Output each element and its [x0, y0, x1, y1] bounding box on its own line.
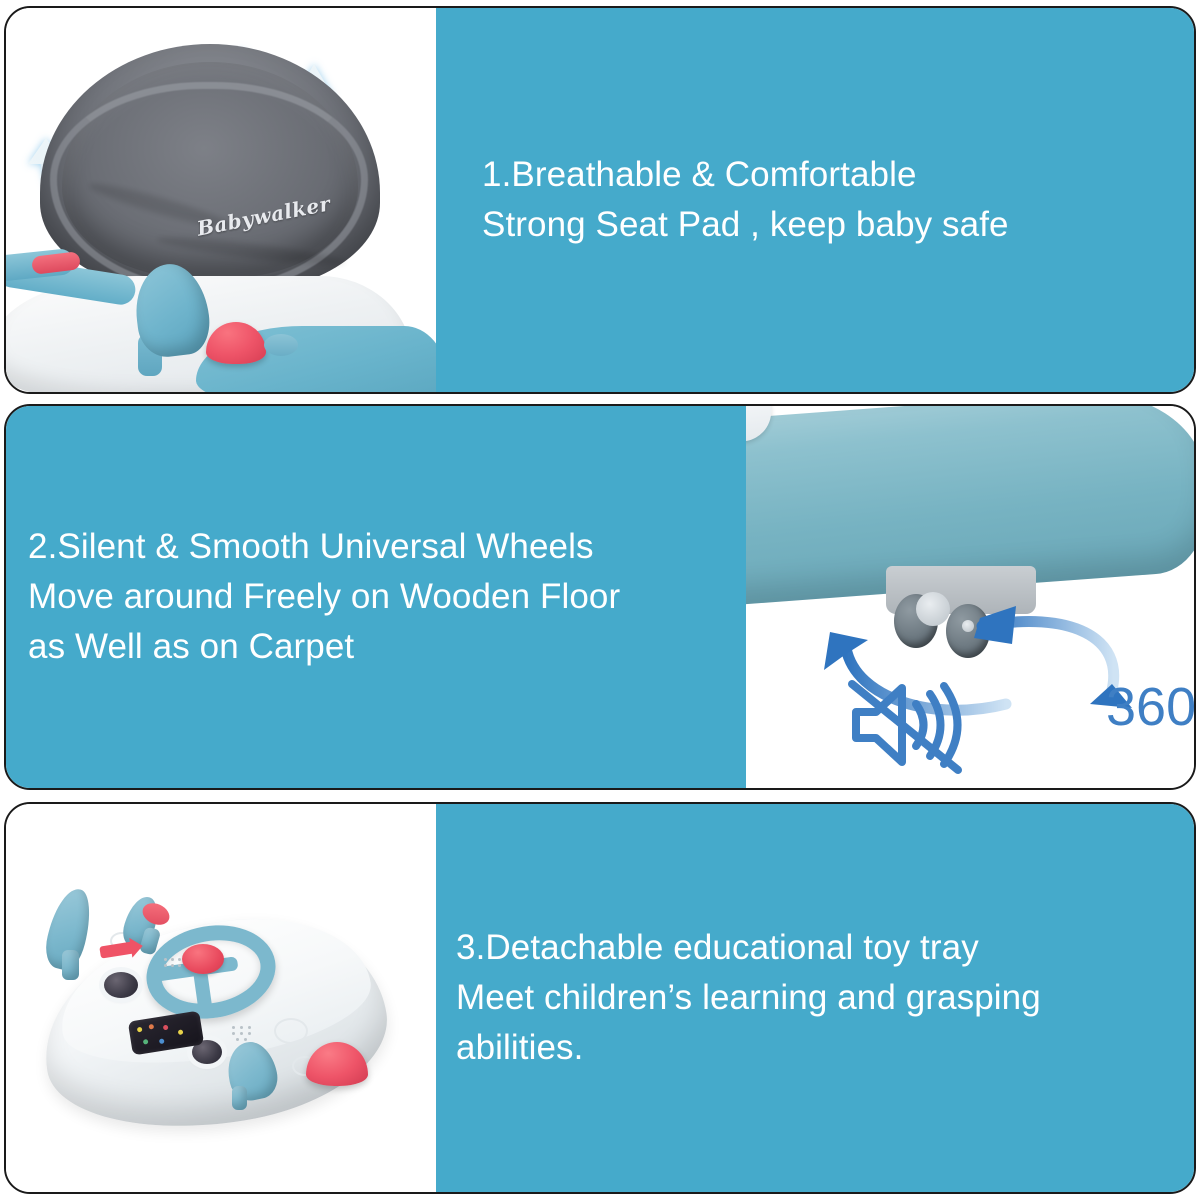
right-lever-stem	[232, 1086, 247, 1110]
panel-3-photo	[6, 804, 436, 1192]
panel-2-caption: 2.Silent & Smooth Universal Wheels Move …	[6, 522, 746, 671]
left-lever-stem	[62, 950, 79, 980]
feature-panel-2: 2.Silent & Smooth Universal Wheels Move …	[4, 404, 1196, 790]
walker-small-teal-button	[264, 334, 298, 356]
swirl-decoration	[274, 1018, 308, 1044]
baby-walker-seat-pad-photo: Babywalker	[6, 8, 436, 392]
mute-speaker-icon	[846, 674, 964, 776]
detachable-toy-tray-photo	[6, 804, 436, 1192]
speaker-grill-upper	[164, 958, 186, 972]
feature-panel-1: Babywalker 1.Breathable & Comfortable St…	[4, 6, 1196, 394]
universal-caster-wheel-photo: ywalker	[746, 406, 1194, 788]
panel-1-caption: 1.Breathable & Comfortable Strong Seat P…	[436, 150, 1194, 249]
rotation-degrees-label: 360°	[1106, 676, 1194, 738]
panel-1-text-block: 1.Breathable & Comfortable Strong Seat P…	[436, 8, 1194, 392]
panel-2-photo: ywalker	[746, 406, 1194, 788]
feature-panel-3: 3.Detachable educational toy tray Meet c…	[4, 802, 1196, 1194]
panel-1-photo: Babywalker	[6, 8, 436, 392]
product-infographic: Babywalker 1.Breathable & Comfortable St…	[0, 0, 1200, 1200]
horn-button	[182, 944, 224, 974]
music-knob-upper	[104, 972, 138, 998]
speaker-grill-lower	[232, 1026, 258, 1042]
panel-2-text-block: 2.Silent & Smooth Universal Wheels Move …	[6, 406, 746, 788]
panel-3-caption: 3.Detachable educational toy tray Meet c…	[436, 923, 1194, 1072]
panel-3-text-block: 3.Detachable educational toy tray Meet c…	[436, 804, 1194, 1192]
